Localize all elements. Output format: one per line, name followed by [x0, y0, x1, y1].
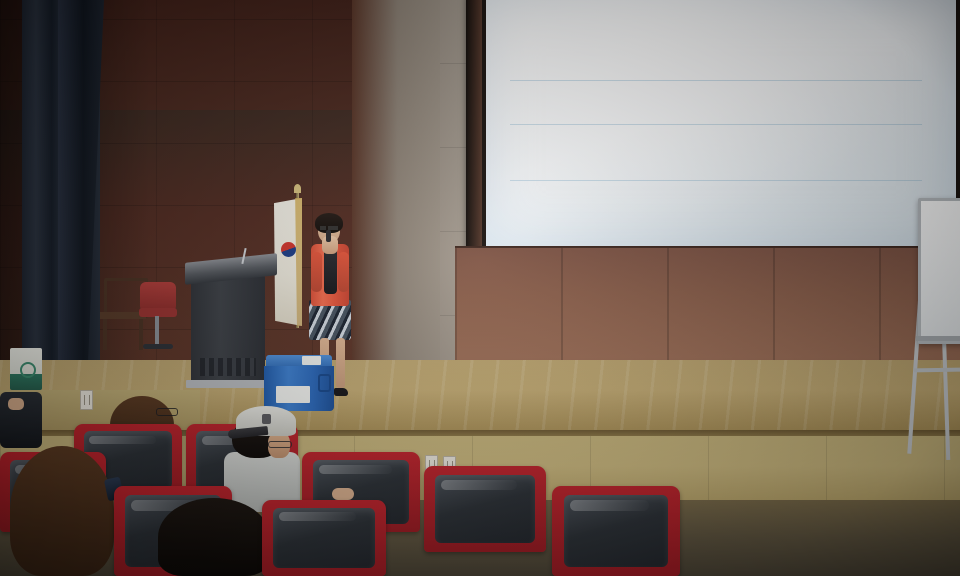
- handheld-microphone: [326, 230, 331, 242]
- cooler-label-front: [276, 386, 310, 403]
- attendee-cap-glasses: [268, 441, 292, 448]
- seat-row2-2: [424, 466, 546, 552]
- projection-screen: 아는가? 2권역 취업진로상담실의 위치 2권역 취업진로상담실 Place: …: [486, 0, 956, 246]
- auditorium-photo: 아는가? 2권역 취업진로상담실의 위치 2권역 취업진로상담실 Place: …: [0, 0, 960, 576]
- presenter-arm-right: [338, 252, 349, 292]
- projection-screen-frame-left: [466, 0, 482, 256]
- red-office-chair-post: [155, 316, 159, 346]
- whiteboard-tray: [916, 336, 960, 341]
- slide-divider-2: [510, 124, 922, 125]
- attendee-hand: [332, 488, 354, 500]
- attendee-brown-hair-glasses: [156, 408, 178, 416]
- presenter-shoe-right: [334, 388, 348, 396]
- seat-row3-2: [262, 500, 386, 576]
- presenter-skirt: [309, 300, 351, 340]
- wall-outlet-3: [80, 390, 93, 410]
- white-box-label: [20, 362, 36, 378]
- lectern-base: [186, 380, 270, 388]
- presenter-arm-left: [311, 252, 322, 292]
- slide-divider-3: [510, 180, 922, 181]
- projector-glare: [486, 0, 956, 246]
- lectern-vents: [200, 358, 256, 376]
- easel-crossbar: [914, 368, 960, 373]
- seat-row2-3: [552, 486, 680, 576]
- slide-divider-1: [510, 80, 922, 81]
- whiteboard: [918, 198, 960, 344]
- presenter-leg-right: [336, 338, 345, 388]
- attendee-foreground-left: [10, 446, 114, 576]
- red-office-chair-base: [143, 344, 173, 349]
- attendee-far-left-hand: [8, 398, 24, 410]
- flag-taegeuk: [281, 242, 296, 257]
- cap-logo: [262, 414, 271, 424]
- attendee-foreground-center: [158, 498, 270, 576]
- cooler-label-top: [302, 356, 321, 365]
- flag-finial: [294, 184, 301, 193]
- cooler-handle: [318, 374, 331, 392]
